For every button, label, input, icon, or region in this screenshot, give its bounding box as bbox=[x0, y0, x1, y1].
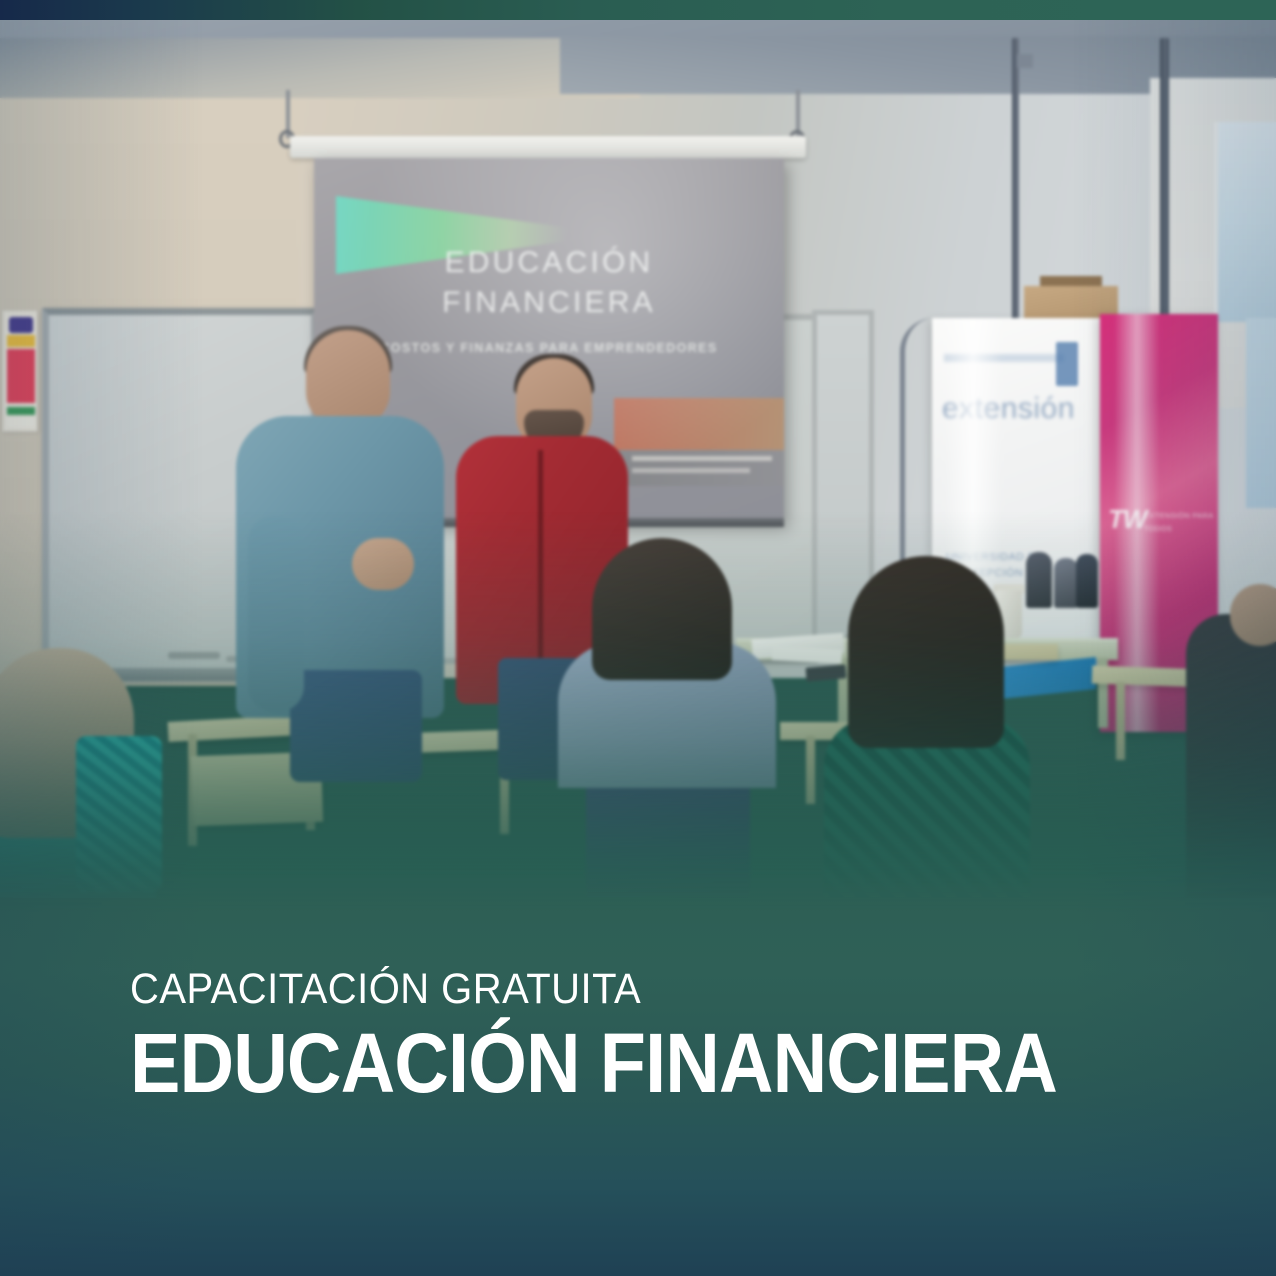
audience-3-hair bbox=[848, 556, 1004, 748]
screen-roller-casing bbox=[290, 136, 806, 158]
audience-2-hair bbox=[592, 538, 732, 680]
presenter-1-arm bbox=[248, 516, 304, 712]
background-person-1 bbox=[1026, 552, 1052, 608]
poster-canvas: EDUCACIÓN FINANCIERA COSTOS Y FINANZAS P… bbox=[0, 0, 1276, 1276]
top-gradient-bar bbox=[0, 0, 1276, 20]
background-person-3 bbox=[1076, 554, 1098, 608]
classroom-photo: EDUCACIÓN FINANCIERA COSTOS Y FINANZAS P… bbox=[0, 18, 1276, 898]
presenter-1-head bbox=[306, 330, 390, 428]
poster-band-green bbox=[7, 407, 35, 415]
poster-band-purple bbox=[9, 317, 33, 333]
student-desk-3-leg bbox=[806, 736, 815, 804]
banner-logo-mark bbox=[1056, 342, 1078, 386]
presenter-2-zipper bbox=[538, 450, 543, 686]
presenter-1-hands bbox=[352, 538, 414, 590]
audience-1-bag bbox=[76, 736, 162, 892]
caption-block: CAPACITACIÓN GRATUITA EDUCACIÓN FINANCIE… bbox=[130, 968, 1160, 1107]
conduit-junction-box bbox=[1017, 54, 1033, 68]
conduit-pipe-left bbox=[1012, 38, 1019, 328]
poster-band-yellow bbox=[7, 335, 35, 347]
background-person-2 bbox=[1054, 558, 1078, 608]
audience-4-torso bbox=[1186, 614, 1276, 898]
ceiling-slant-left bbox=[0, 38, 640, 98]
wall-poster bbox=[2, 310, 38, 432]
student-desk-4-leg bbox=[1116, 682, 1125, 760]
presenter-1-legs bbox=[290, 670, 422, 782]
window-upper-right bbox=[1214, 122, 1276, 322]
marker-eraser bbox=[168, 652, 220, 659]
poster-band-red bbox=[7, 349, 35, 403]
kicker-text: CAPACITACIÓN GRATUITA bbox=[130, 968, 1088, 1011]
poster-band-white bbox=[7, 417, 35, 427]
page-title: EDUCACIÓN FINANCIERA bbox=[130, 1021, 1057, 1107]
window-lower-right bbox=[1246, 318, 1276, 508]
